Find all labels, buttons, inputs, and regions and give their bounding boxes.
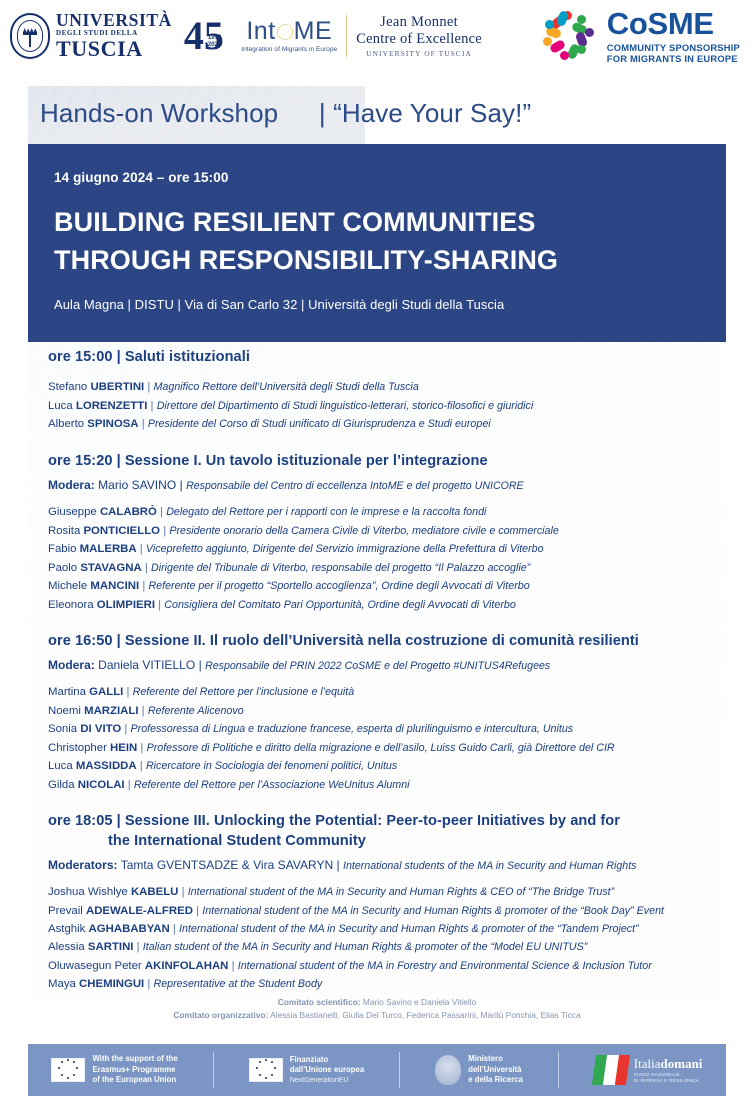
event-venue: Aula Magna | DISTU | Via di San Carlo 32…: [54, 297, 726, 312]
speaker-surname: KABELU: [131, 886, 178, 898]
session-heading: ore 15:20 | Sessione I. Un tavolo istitu…: [48, 452, 728, 471]
moderator-names: Daniela VITIELLO: [95, 658, 199, 672]
committees-block: Comitato scientifico: Mario Savino e Dan…: [0, 996, 754, 1021]
session-block: ore 15:00 | Saluti istituzionaliStefano …: [48, 348, 728, 434]
speaker-first-name: Michele: [48, 580, 90, 592]
speaker-first-name: Rosita: [48, 525, 83, 537]
speaker-first-name: Stefano: [48, 381, 90, 393]
session-heading: ore 18:05 | Sessione III. Unlocking the …: [48, 812, 728, 851]
speaker-row: Prevail ADEWALE-ALFRED | International s…: [48, 902, 728, 920]
speaker-row: Noemi MARZIALI | Referente Alicenovo: [48, 702, 728, 720]
speaker-surname: CHEMINGUI: [79, 978, 144, 990]
speaker-surname: GALLI: [89, 686, 123, 698]
speaker-row: Maya CHEMINGUI | Representative at the S…: [48, 975, 728, 993]
speaker-row: Alessia SARTINI | Italian student of the…: [48, 938, 728, 956]
speaker-row: Luca MASSIDDA | Ricercatore in Sociologi…: [48, 757, 728, 775]
speaker-surname: DI VITO: [80, 723, 121, 735]
speaker-first-name: Prevail: [48, 905, 86, 917]
speaker-separator: |: [147, 400, 156, 412]
speaker-role: Referente del Rettore per l’Associazione…: [134, 779, 410, 791]
italiadomani-sub-2: DI RIPRESA E RESILIENZA: [634, 1078, 703, 1084]
event-title-block: 14 giugno 2024 – ore 15:00 BUILDING RESI…: [28, 144, 726, 342]
speaker-first-name: Christopher: [48, 742, 110, 754]
speaker-row: Fabio MALERBA | Viceprefetto aggiunto, D…: [48, 540, 728, 558]
logo-divider: [346, 15, 347, 57]
speaker-row: Alberto SPINOSA | Presidente del Corso d…: [48, 415, 728, 433]
speaker-role: Consigliera del Comitato Pari Opportunit…: [164, 599, 516, 611]
session-moderator: Moderators: Tamta GVENTSADZE & Vira SAVA…: [48, 858, 728, 872]
erasmus-line-2: Erasmus+ Programme: [92, 1065, 177, 1076]
eu-flag-icon: [51, 1058, 85, 1082]
organizing-committee-label: Comitato organizzativo:: [173, 1010, 268, 1020]
speaker-separator: |: [125, 779, 134, 791]
speaker-surname: SARTINI: [88, 941, 134, 953]
speaker-first-name: Luca: [48, 760, 76, 772]
speaker-row: Giuseppe CALABRÒ | Delegato del Rettore …: [48, 503, 728, 521]
italiadomani-logo: Italiadomani PIANO NAZIONALE DI RIPRESA …: [594, 1055, 703, 1085]
scientific-committee-members: Mario Savino e Daniela Vitiello: [361, 997, 477, 1007]
workshop-banner: Hands-on Workshop | “Have Your Say!”: [0, 86, 754, 144]
footer-divider-2: [399, 1052, 400, 1088]
speaker-surname: MANCINI: [90, 580, 139, 592]
unitus-line3: TUSCIA: [56, 38, 172, 60]
workshop-quote: “Have Your Say!”: [333, 98, 531, 128]
speaker-first-name: Maya: [48, 978, 79, 990]
speaker-row: Luca LORENZETTI | Direttore del Dipartim…: [48, 397, 728, 415]
eu-flag-icon: [249, 1058, 283, 1082]
moderator-names: Mario SAVINO: [95, 478, 180, 492]
moderator-role: Responsabile del Centro di eccellenza In…: [186, 480, 524, 492]
speaker-surname: MALERBA: [80, 543, 137, 555]
speaker-first-name: Giuseppe: [48, 506, 100, 518]
speaker-row: Paolo STAVAGNA | Dirigente del Tribunale…: [48, 559, 728, 577]
speaker-separator: |: [160, 525, 169, 537]
speaker-role: Referente Alicenovo: [148, 705, 244, 717]
speaker-separator: |: [133, 941, 142, 953]
moderator-label: Moderators:: [48, 858, 118, 872]
moderator-role: International students of the MA in Secu…: [343, 860, 637, 872]
footer-divider-1: [213, 1052, 214, 1088]
speaker-first-name: Alessia: [48, 941, 88, 953]
erasmus-line-1: With the support of the: [92, 1054, 177, 1065]
footer-logo-band: With the support of the Erasmus+ Program…: [28, 1044, 726, 1096]
speaker-first-name: Alberto: [48, 418, 87, 430]
speaker-surname: MARZIALI: [84, 705, 138, 717]
session-heading-line-2: the International Student Community: [48, 832, 728, 851]
speaker-role: Italian student of the MA in Security an…: [143, 941, 588, 953]
ministero-line-3: e della Ricerca: [468, 1075, 523, 1086]
cosme-tagline-2: FOR MIGRANTS IN EUROPE: [607, 53, 740, 64]
speaker-first-name: Noemi: [48, 705, 84, 717]
nextgen-logo: Finanziato dall’Unione europea NextGener…: [249, 1055, 365, 1085]
speaker-list: Martina GALLI | Referente del Rettore pe…: [48, 683, 728, 794]
university-tuscia-logo: UNIVERSITÀ DEGLI STUDI DELLA TUSCIA 45 1…: [10, 12, 221, 61]
speaker-separator: |: [170, 923, 179, 935]
speaker-surname: SPINOSA: [87, 418, 138, 430]
moderator-role: Responsabile del PRIN 2022 CoSME e del P…: [205, 660, 550, 672]
speaker-role: Delegato del Rettore per i rapporti con …: [166, 506, 486, 518]
anniversary-year-from: 1979: [208, 35, 221, 42]
eu-circle-icon: [277, 24, 293, 40]
top-logo-bar: UNIVERSITÀ DEGLI STUDI DELLA TUSCIA 45 1…: [0, 0, 754, 72]
nextgen-line-1: Finanziato: [290, 1055, 365, 1066]
speaker-surname: AGHABABYAN: [89, 923, 170, 935]
cosme-logo: CoSME COMMUNITY SPONSORSHIP FOR MIGRANTS…: [541, 8, 740, 65]
anniversary-logo: 45 1979 2024: [184, 19, 221, 53]
speaker-separator: |: [193, 905, 202, 917]
speaker-surname: STAVAGNA: [80, 562, 141, 574]
organizing-committee: Comitato organizzativo: Alessia Bastiane…: [0, 1009, 754, 1022]
speaker-first-name: Sonia: [48, 723, 80, 735]
speaker-separator: |: [123, 686, 132, 698]
erasmus-line-3: of the European Union: [92, 1075, 177, 1086]
speaker-separator: |: [139, 705, 148, 717]
republic-emblem-icon: [435, 1055, 461, 1085]
speaker-role: Presidente del Corso di Studi unificato …: [148, 418, 491, 430]
unitus-line1: UNIVERSITÀ: [56, 12, 172, 30]
nextgen-line-3: NextGenerationEU: [290, 1076, 365, 1085]
speaker-list: Joshua Wishlye KABELU | International st…: [48, 883, 728, 994]
speaker-first-name: Fabio: [48, 543, 80, 555]
speaker-role: Referente del Rettore per l’inclusione e…: [133, 686, 355, 698]
program-list: ore 15:00 | Saluti istituzionaliStefano …: [0, 348, 754, 994]
footer-divider-3: [558, 1052, 559, 1088]
speaker-separator: |: [121, 723, 130, 735]
cosme-tagline-1: COMMUNITY SPONSORSHIP: [607, 42, 740, 53]
moderator-label: Modera:: [48, 478, 95, 492]
speaker-role: International student of the MA in Fores…: [238, 960, 652, 972]
speaker-row: Gilda NICOLAI | Referente del Rettore pe…: [48, 776, 728, 794]
intome-jeanmonnet-logo: Int ME Integration of Migrants in Europe…: [241, 14, 482, 58]
speaker-separator: |: [137, 543, 146, 555]
ministero-line-2: dell’Università: [468, 1065, 523, 1076]
speaker-surname: CALABRÒ: [100, 506, 157, 518]
speaker-row: Joshua Wishlye KABELU | International st…: [48, 883, 728, 901]
moderator-names: Tamta GVENTSADZE & Vira SAVARYN: [118, 858, 337, 872]
speaker-role: Representative at the Student Body: [154, 978, 323, 990]
speaker-role: Dirigente del Tribunale di Viterbo, resp…: [151, 562, 530, 574]
speaker-role: Ricercatore in Sociologia dei fenomeni p…: [146, 760, 397, 772]
session-block: ore 15:20 | Sessione I. Un tavolo istitu…: [48, 452, 728, 614]
speaker-separator: |: [137, 742, 146, 754]
speaker-row: Oluwasegun Peter AKINFOLAHAN | Internati…: [48, 957, 728, 975]
speaker-row: Martina GALLI | Referente del Rettore pe…: [48, 683, 728, 701]
italian-flag-icon: [592, 1055, 630, 1085]
speaker-separator: |: [228, 960, 237, 972]
speaker-role: Direttore del Dipartimento di Studi ling…: [157, 400, 534, 412]
session-moderator: Modera: Daniela VITIELLO | Responsabile …: [48, 658, 728, 672]
speaker-separator: |: [144, 381, 153, 393]
workshop-banner-text: Hands-on Workshop | “Have Your Say!”: [40, 98, 740, 129]
speaker-surname: AKINFOLAHAN: [145, 960, 229, 972]
speaker-first-name: Paolo: [48, 562, 80, 574]
session-moderator: Modera: Mario SAVINO | Responsabile del …: [48, 478, 728, 492]
speaker-first-name: Eleonora: [48, 599, 97, 611]
speaker-first-name: Gilda: [48, 779, 78, 791]
speaker-list: Stefano UBERTINI | Magnifico Rettore del…: [48, 378, 728, 433]
program-section: ore 15:00 | Saluti istituzionaliStefano …: [0, 342, 754, 1032]
speaker-role: Presidente onorario della Camera Civile …: [169, 525, 558, 537]
scientific-committee: Comitato scientifico: Mario Savino e Dan…: [0, 996, 754, 1009]
speaker-surname: UBERTINI: [90, 381, 144, 393]
nextgen-line-2: dall’Unione europea: [290, 1065, 365, 1076]
session-block: ore 18:05 | Sessione III. Unlocking the …: [48, 812, 728, 994]
speaker-row: Astghik AGHABABYAN | International stude…: [48, 920, 728, 938]
speaker-first-name: Martina: [48, 686, 89, 698]
speaker-surname: PONTICIELLO: [83, 525, 160, 537]
speaker-separator: |: [137, 760, 146, 772]
erasmus-logo: With the support of the Erasmus+ Program…: [51, 1054, 177, 1086]
speaker-surname: MASSIDDA: [76, 760, 137, 772]
jeanmonnet-line2: Centre of Excellence: [356, 31, 482, 48]
speaker-row: Rosita PONTICIELLO | Presidente onorario…: [48, 522, 728, 540]
speaker-surname: LORENZETTI: [76, 400, 148, 412]
speaker-separator: |: [178, 886, 187, 898]
moderator-label: Modera:: [48, 658, 95, 672]
session-heading: ore 16:50 | Sessione II. Il ruolo dell’U…: [48, 632, 728, 651]
workshop-label: Hands-on Workshop: [40, 98, 278, 128]
italiadomani-name-bold: domani: [661, 1056, 703, 1071]
speaker-surname: HEIN: [110, 742, 137, 754]
banner-separator: |: [319, 98, 326, 128]
speaker-row: Eleonora OLIMPIERI | Consigliera del Com…: [48, 596, 728, 614]
italiadomani-name-light: Italia: [634, 1056, 661, 1071]
cosme-people-circle-icon: [541, 9, 599, 63]
speaker-role: Magnifico Rettore dell’Università degli …: [154, 381, 419, 393]
session-heading: ore 15:00 | Saluti istituzionali: [48, 348, 728, 367]
organizing-committee-members: Alessia Bastianelli, Giulia Del Turco, F…: [268, 1010, 580, 1020]
scientific-committee-label: Comitato scientifico:: [278, 997, 361, 1007]
speaker-first-name: Luca: [48, 400, 76, 412]
speaker-role: Viceprefetto aggiunto, Dirigente del Ser…: [146, 543, 544, 555]
speaker-role: Referente per il progetto “Sportello acc…: [148, 580, 529, 592]
speaker-separator: |: [157, 506, 166, 518]
event-date: 14 giugno 2024 – ore 15:00: [54, 170, 726, 185]
speaker-role: International student of the MA in Secur…: [188, 886, 615, 898]
jeanmonnet-line1: Jean Monnet: [356, 14, 482, 31]
event-title-line-1: BUILDING RESILIENT COMMUNITIES: [54, 203, 726, 241]
speaker-separator: |: [139, 418, 148, 430]
speaker-first-name: Astghik: [48, 923, 89, 935]
speaker-surname: ADEWALE-ALFRED: [86, 905, 193, 917]
speaker-role: Professore di Politiche e diritto della …: [147, 742, 615, 754]
anniversary-year-to: 2024: [208, 42, 221, 49]
ministero-line-1: Ministero: [468, 1054, 523, 1065]
speaker-row: Stefano UBERTINI | Magnifico Rettore del…: [48, 378, 728, 396]
speaker-separator: |: [144, 978, 153, 990]
speaker-row: Sonia DI VITO | Professoressa di Lingua …: [48, 720, 728, 738]
speaker-role: Professoressa di Lingua e traduzione fra…: [131, 723, 574, 735]
ministero-logo: Ministero dell’Università e della Ricerc…: [435, 1054, 523, 1086]
speaker-role: International student of the MA in Secur…: [179, 923, 639, 935]
speaker-role: International student of the MA in Secur…: [202, 905, 664, 917]
speaker-separator: |: [155, 599, 164, 611]
speaker-row: Christopher HEIN | Professore di Politic…: [48, 739, 728, 757]
speaker-separator: |: [142, 562, 151, 574]
cosme-name: CoSME: [607, 8, 740, 39]
intome-pre: Int: [246, 19, 275, 44]
speaker-surname: NICOLAI: [78, 779, 125, 791]
speaker-first-name: Oluwasegun Peter: [48, 960, 145, 972]
speaker-list: Giuseppe CALABRÒ | Delegato del Rettore …: [48, 503, 728, 614]
university-crest-icon: [10, 13, 50, 59]
intome-post: ME: [294, 19, 333, 44]
speaker-row: Michele MANCINI | Referente per il proge…: [48, 577, 728, 595]
event-title-line-2: THROUGH RESPONSIBILITY-SHARING: [54, 241, 726, 279]
speaker-first-name: Joshua Wishlye: [48, 886, 131, 898]
jeanmonnet-line3: UNIVERSITY OF TUSCIA: [356, 49, 482, 58]
session-block: ore 16:50 | Sessione II. Il ruolo dell’U…: [48, 632, 728, 794]
speaker-surname: OLIMPIERI: [97, 599, 155, 611]
intome-subtitle: Integration of Migrants in Europe: [241, 46, 337, 53]
